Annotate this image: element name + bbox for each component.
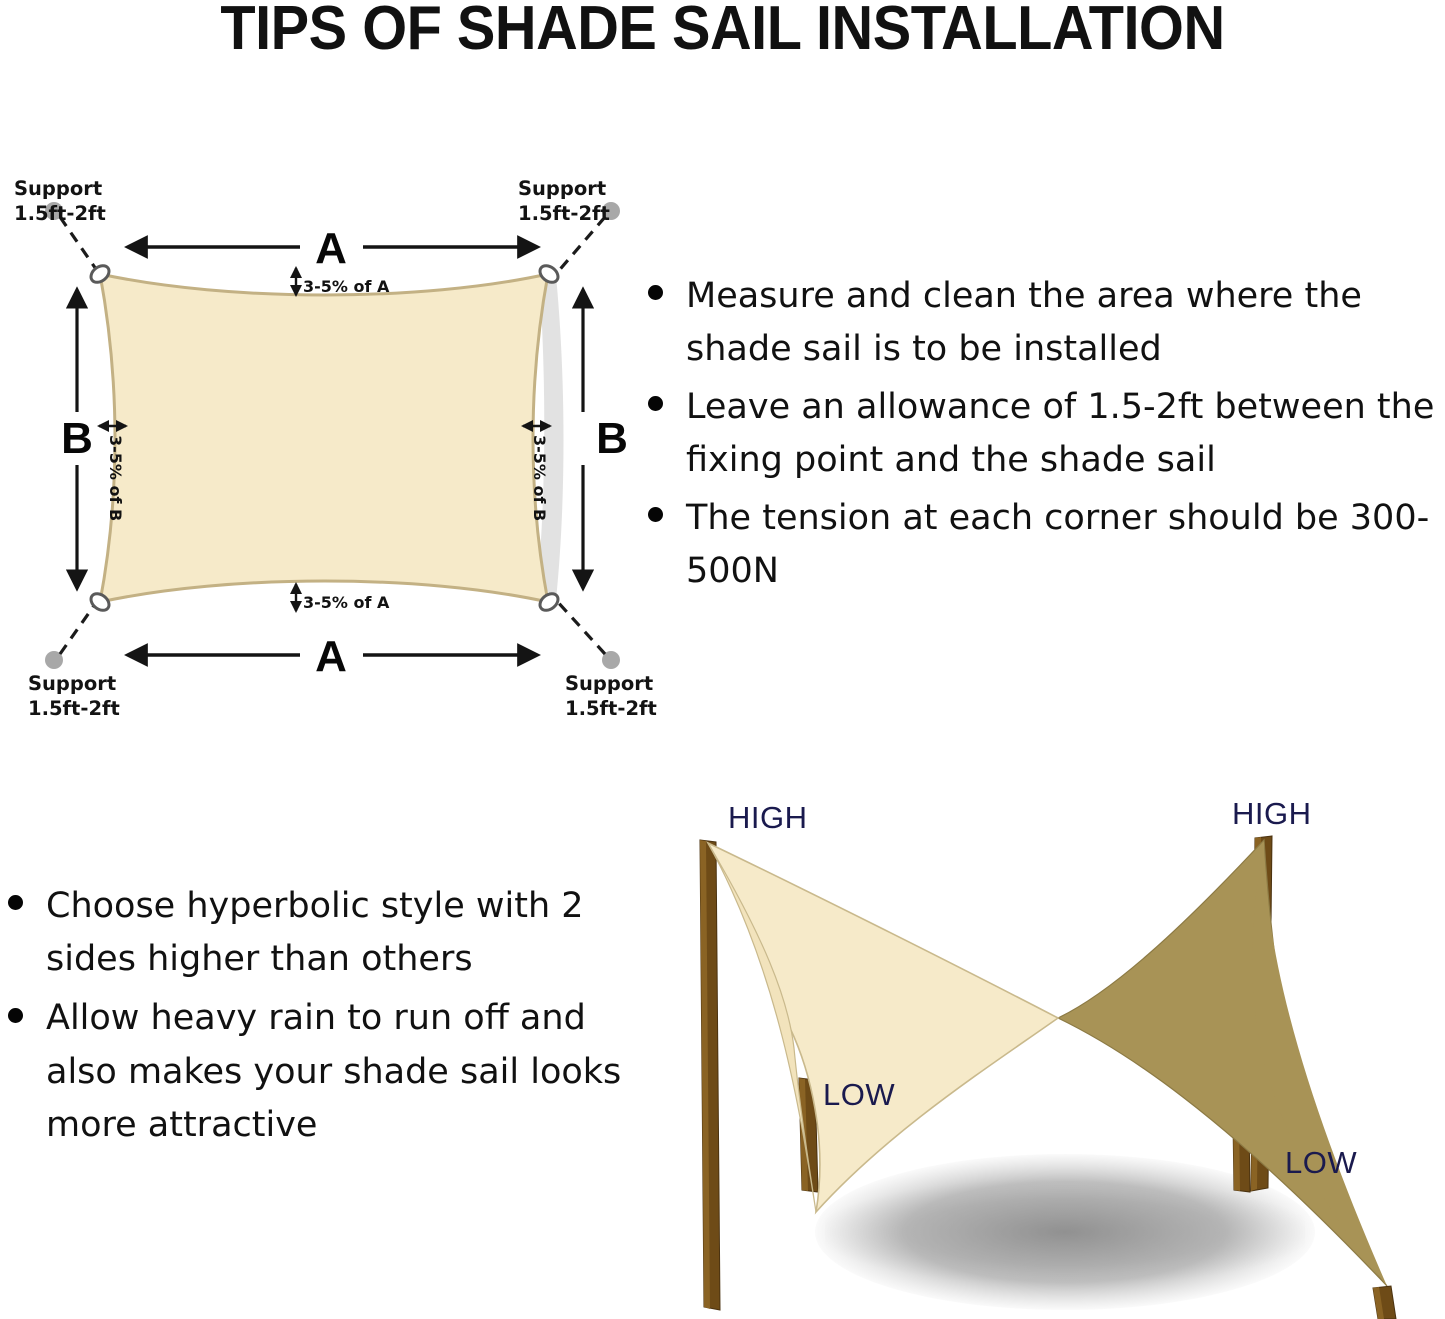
ground-shadow-block bbox=[825, 1180, 1305, 1284]
post-low-right bbox=[1373, 1286, 1396, 1319]
support-top-right-line1: Support bbox=[518, 177, 606, 200]
list-item: Allow heavy rain to run off and also mak… bbox=[0, 992, 630, 1152]
support-bottom-left-line2: 1.5ft-2ft bbox=[28, 697, 120, 720]
hyperbolic-diagram-panel: HIGH HIGH LOW LOW bbox=[660, 780, 1445, 1319]
dimension-height-left: B bbox=[61, 290, 93, 588]
page-title: TIPS OF SHADE SAIL INSTALLATION bbox=[51, 0, 1395, 61]
label-A-bottom: A bbox=[315, 632, 347, 681]
list-item: Choose hyperbolic style with 2 sides hig… bbox=[0, 880, 630, 986]
support-line-bottom-right bbox=[556, 600, 605, 654]
support-line-bottom-left bbox=[60, 600, 98, 654]
support-label-bottom-left: Support 1.5ft-2ft bbox=[28, 672, 120, 720]
curve-label-right: 3-5% of B bbox=[530, 435, 549, 521]
support-top-left-line1: Support bbox=[14, 177, 102, 200]
label-low-left: LOW bbox=[823, 1077, 895, 1112]
bullet-dot-icon bbox=[8, 1008, 23, 1023]
rect-diagram-svg: A A B B 3-5% of A bbox=[0, 150, 640, 730]
label-B-left: B bbox=[61, 414, 93, 463]
support-bottom-right-line1: Support bbox=[565, 672, 653, 695]
support-label-top-left: Support 1.5ft-2ft bbox=[14, 177, 106, 225]
label-B-right: B bbox=[596, 414, 628, 463]
bullet-dot-icon bbox=[648, 507, 663, 522]
sail-surface bbox=[100, 274, 548, 602]
dimension-height-right: B bbox=[583, 290, 628, 588]
list-item: Leave an allowance of 1.5-2ft between th… bbox=[640, 381, 1445, 486]
support-top-right-line2: 1.5ft-2ft bbox=[518, 202, 610, 225]
support-line-top-right bbox=[556, 217, 605, 274]
curve-callout-bottom: 3-5% of A bbox=[296, 584, 390, 612]
bullet-text: Allow heavy rain to run off and also mak… bbox=[46, 998, 621, 1144]
bullet-text: Leave an allowance of 1.5-2ft between th… bbox=[686, 387, 1434, 480]
dimension-width-top: A bbox=[128, 224, 537, 273]
label-high-right: HIGH bbox=[1232, 796, 1312, 831]
curve-callout-left: 3-5% of B bbox=[99, 426, 126, 521]
bullet-dot-icon bbox=[8, 895, 23, 910]
bullet-dot-icon bbox=[648, 285, 663, 300]
support-label-top-right: Support 1.5ft-2ft bbox=[518, 177, 610, 225]
bullet-dot-icon bbox=[648, 396, 663, 411]
installation-steps-list: Measure and clean the area where the sha… bbox=[640, 270, 1445, 597]
label-high-left: HIGH bbox=[728, 800, 808, 835]
hyperbolic-tips-panel: Choose hyperbolic style with 2 sides hig… bbox=[0, 880, 630, 1210]
dimension-width-bottom: A bbox=[128, 632, 537, 681]
bullet-text: Measure and clean the area where the sha… bbox=[686, 276, 1362, 369]
list-item: The tension at each corner should be 300… bbox=[640, 492, 1445, 597]
label-low-right: LOW bbox=[1285, 1145, 1357, 1180]
list-item: Measure and clean the area where the sha… bbox=[640, 270, 1445, 375]
curve-label-top: 3-5% of A bbox=[303, 277, 390, 296]
support-bottom-left-line1: Support bbox=[28, 672, 116, 695]
curve-label-left: 3-5% of B bbox=[106, 435, 125, 521]
post-high-left bbox=[700, 840, 720, 1310]
curve-label-bottom: 3-5% of A bbox=[303, 593, 390, 612]
hyperbolic-diagram-svg: HIGH HIGH LOW LOW bbox=[660, 780, 1445, 1319]
support-bottom-right-line2: 1.5ft-2ft bbox=[565, 697, 657, 720]
installation-steps-panel: Measure and clean the area where the sha… bbox=[640, 270, 1445, 660]
support-top-left-line2: 1.5ft-2ft bbox=[14, 202, 106, 225]
bullet-text: Choose hyperbolic style with 2 sides hig… bbox=[46, 886, 584, 979]
hyperbolic-tips-list: Choose hyperbolic style with 2 sides hig… bbox=[0, 880, 630, 1152]
rect-diagram-panel: A A B B 3-5% of A bbox=[0, 150, 640, 730]
bullet-text: The tension at each corner should be 300… bbox=[686, 498, 1429, 591]
support-line-top-left bbox=[60, 217, 98, 272]
label-A-top: A bbox=[315, 224, 347, 273]
infographic-page: TIPS OF SHADE SAIL INSTALLATION bbox=[0, 0, 1445, 1319]
support-label-bottom-right: Support 1.5ft-2ft bbox=[565, 672, 657, 720]
